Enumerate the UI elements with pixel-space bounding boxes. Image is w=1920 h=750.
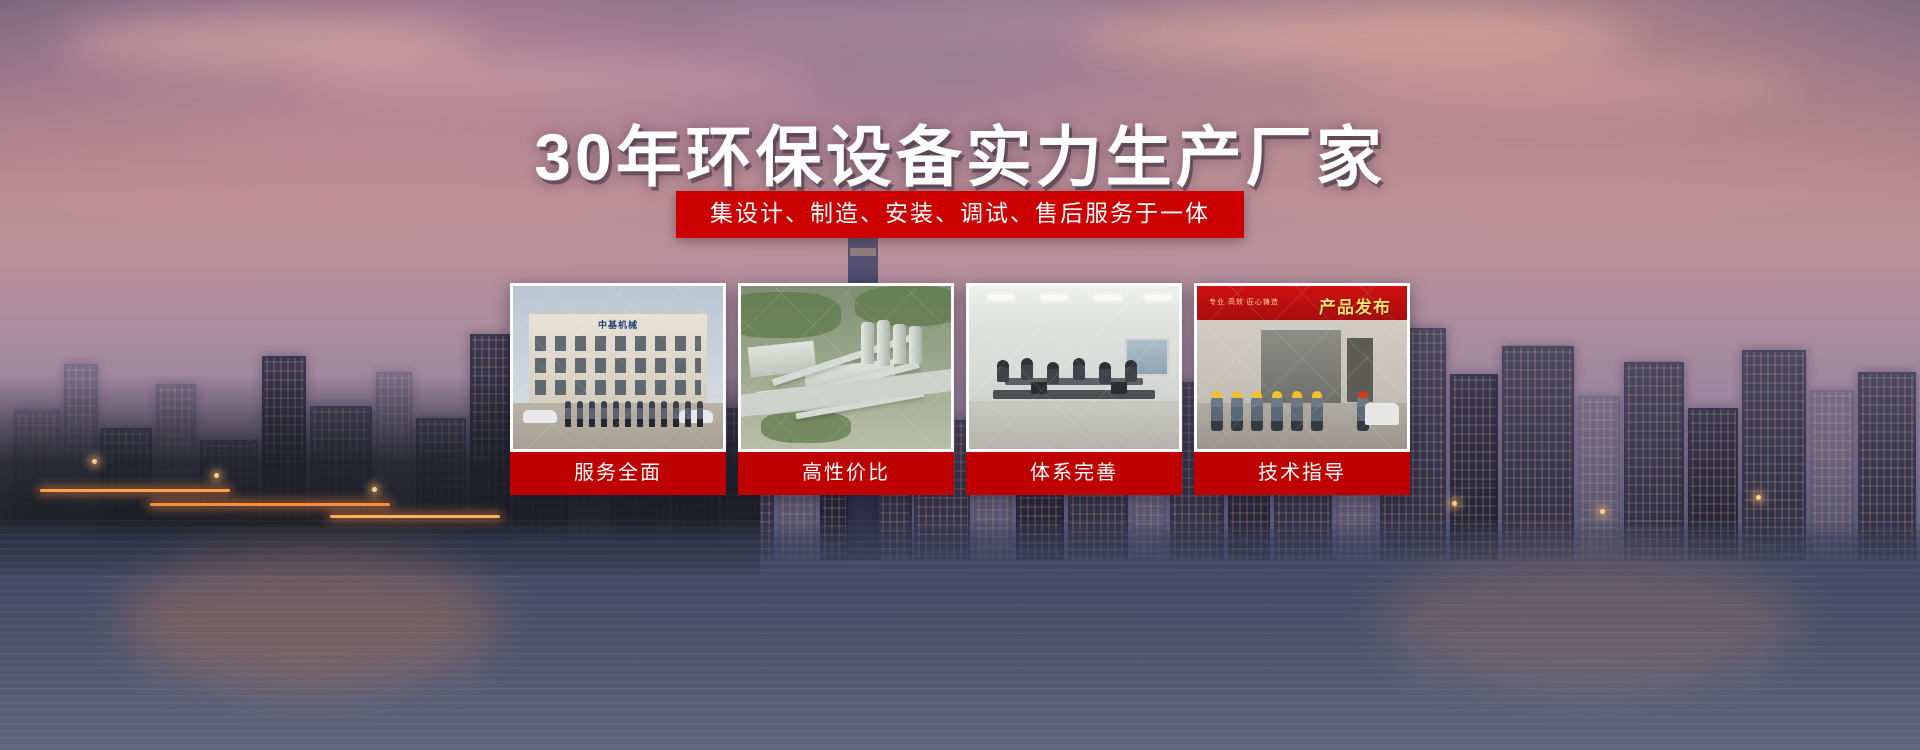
worker <box>1211 397 1223 431</box>
water-glow <box>1380 550 1800 690</box>
worker <box>1251 397 1263 431</box>
page-title: 30年环保设备实力生产厂家 <box>0 104 1920 200</box>
card-caption: 体系完善 <box>966 452 1182 495</box>
riverside-light-strip <box>150 503 390 506</box>
subtitle-banner: 集设计、制造、安装、调试、售后服务于一体 <box>676 191 1244 238</box>
street-lamp <box>1756 495 1761 500</box>
street-lamp <box>92 459 97 464</box>
card-photo-workshop-training: 专业 高效 匠心铸造 产品发布 <box>1197 286 1407 449</box>
feature-card-list: 中基机械 服务全面 <box>510 283 1410 495</box>
van <box>1365 403 1399 425</box>
monitor <box>1111 382 1127 394</box>
subtitle-text: 集设计、制造、安装、调试、售后服务于一体 <box>710 202 1210 225</box>
workshop-banner: 专业 高效 匠心铸造 产品发布 <box>1197 286 1407 320</box>
building-sign: 中基机械 <box>598 318 638 331</box>
feature-card[interactable]: 高性价比 <box>738 283 954 495</box>
street-lamp <box>214 473 219 478</box>
card-photo-office-building: 中基机械 <box>513 286 723 449</box>
riverside-light-strip <box>330 515 500 518</box>
card-caption: 服务全面 <box>510 452 726 495</box>
feature-card[interactable]: 中基机械 服务全面 <box>510 283 726 495</box>
street-lamp <box>372 487 377 492</box>
worker <box>1291 397 1303 431</box>
water-glow <box>120 550 500 690</box>
card-caption: 技术指导 <box>1194 452 1410 495</box>
card-caption: 高性价比 <box>738 452 954 495</box>
monitor <box>1031 382 1047 394</box>
worker <box>1231 397 1243 431</box>
staff-row <box>565 401 703 427</box>
street-lamp <box>1452 501 1457 506</box>
workshop-banner-subtext: 专业 高效 匠心铸造 <box>1209 297 1279 307</box>
parked-car <box>523 410 557 423</box>
feature-card[interactable]: 体系完善 <box>966 283 1182 495</box>
ceiling-lights <box>969 286 1179 326</box>
worker <box>1311 397 1323 431</box>
card-photo-production-base <box>741 286 951 449</box>
worker <box>1271 397 1283 431</box>
riverside-light-strip <box>40 489 230 492</box>
card-photo-office-meeting <box>969 286 1179 449</box>
street-lamp <box>1600 509 1605 514</box>
feature-card[interactable]: 专业 高效 匠心铸造 产品发布 技术指导 <box>1194 283 1410 495</box>
hero-banner: 30年环保设备实力生产厂家 集设计、制造、安装、调试、售后服务于一体 中基机械 <box>0 0 1920 750</box>
workshop-banner-text: 产品发布 <box>1319 293 1391 318</box>
office-building: 中基机械 <box>529 312 707 408</box>
